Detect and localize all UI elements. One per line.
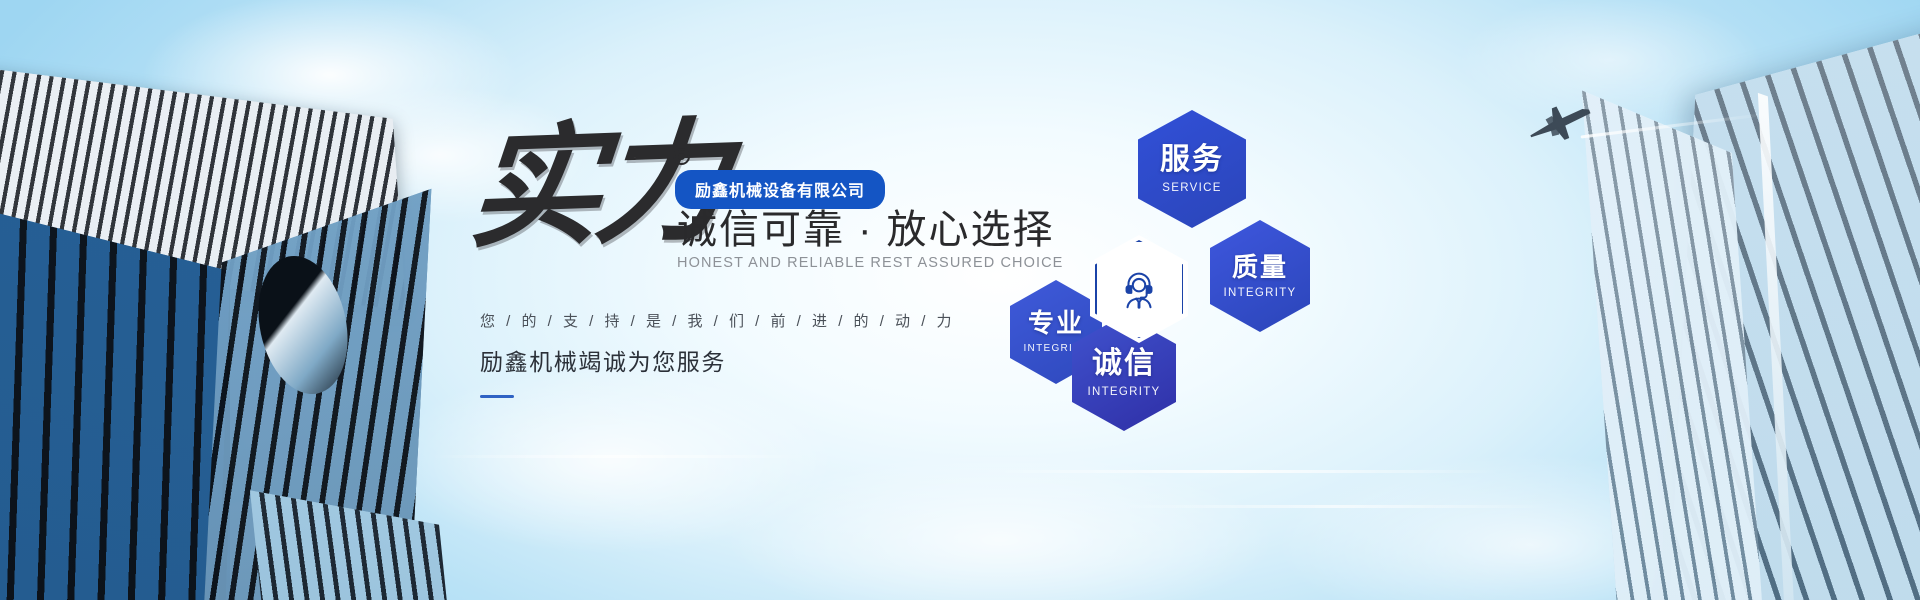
hexagon-label-en: SERVICE [1162,182,1221,194]
hexagon-label-cn: 服务 [1160,145,1224,175]
tagline: 诚信可靠 · 放心选择 HONEST AND RELIABLE REST ASS… [677,208,1063,271]
value-hexagon-cluster: 服务 SERVICE 质量 INTEGRITY 专业 INTEGRITY 诚信 … [1080,110,1380,510]
circle-dot-icon [673,148,690,165]
hexagon-label-cn: 诚信 [1092,349,1156,379]
slogan-block: 您 / 的 / 支 / 持 / 是 / 我 / 们 / 前 / 进 / 的 / … [480,310,955,398]
hexagon-label-en: INTEGRITY [1087,386,1160,398]
hexagon-label-en: INTEGRITY [1223,287,1296,299]
glass-skyscraper-left [0,80,430,600]
tagline-en: HONEST AND RELIABLE REST ASSURED CHOICE [677,255,1063,271]
slogan-line-2: 励鑫机械竭诚为您服务 [480,343,955,377]
hexagon-badge-quality[interactable]: 质量 INTEGRITY [1210,220,1310,332]
airplane-icon [1524,100,1598,146]
glass-skyscraper-right [1620,40,1920,600]
hero-headline-row: 实力 励鑫机械设备有限公司 诚信可靠 · 放心选择 HONEST AND REL… [470,120,1090,270]
slogan-line-1: 您 / 的 / 支 / 持 / 是 / 我 / 们 / 前 / 进 / 的 / … [480,310,955,331]
banner-text-block: 实力 励鑫机械设备有限公司 诚信可靠 · 放心选择 HONEST AND REL… [470,120,1090,270]
tagline-cn: 诚信可靠 · 放心选择 [677,208,1063,253]
company-name-badge: 励鑫机械设备有限公司 [675,170,885,209]
cloud-streak [430,455,810,458]
hexagon-badge-service[interactable]: 服务 SERVICE [1138,110,1246,228]
accent-rule [480,395,514,398]
hexagon-label-cn: 质量 [1232,254,1288,280]
hexagon-label-cn: 专业 [1028,310,1084,336]
promo-banner: 实力 励鑫机械设备有限公司 诚信可靠 · 放心选择 HONEST AND REL… [0,0,1920,600]
